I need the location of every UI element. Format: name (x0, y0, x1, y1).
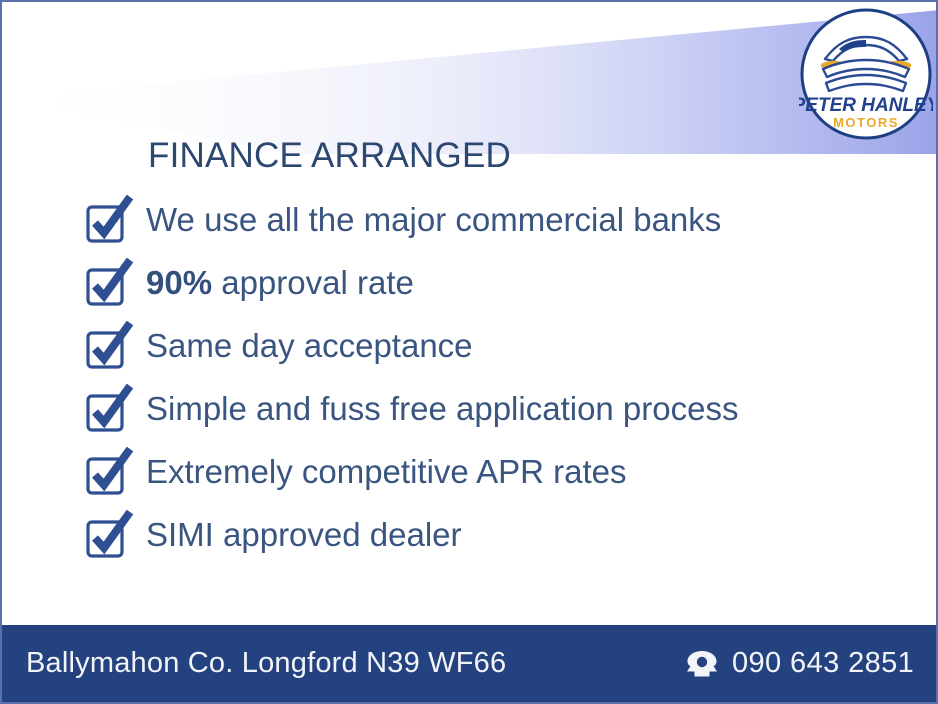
list-item-label: Same day acceptance (146, 329, 473, 362)
checkbox-checked-icon (84, 384, 134, 434)
footer-bar: Ballymahon Co. Longford N39 WF66 090 643… (2, 625, 936, 702)
page-title: FINANCE ARRANGED (148, 136, 511, 176)
finance-arranged-poster: PETER HANLEY MOTORS FINANCE ARRANGED We … (0, 0, 938, 704)
list-item-text: Extremely competitive APR rates (146, 453, 627, 490)
list-item-label: Simple and fuss free application process (146, 392, 739, 425)
list-item-text: approval rate (212, 264, 414, 301)
list-item-text: We use all the major commercial banks (146, 201, 721, 238)
list-item-text: Simple and fuss free application process (146, 390, 739, 427)
list-item-label: SIMI approved dealer (146, 518, 462, 551)
footer-phone-group[interactable]: 090 643 2851 (685, 647, 914, 680)
list-item-emphasis: 90% (146, 264, 212, 301)
list-item-label: We use all the major commercial banks (146, 203, 721, 236)
footer-address: Ballymahon Co. Longford N39 WF66 (26, 647, 506, 680)
list-item-label: Extremely competitive APR rates (146, 455, 627, 488)
list-item: Simple and fuss free application process (84, 377, 884, 440)
list-item-text: SIMI approved dealer (146, 516, 462, 553)
list-item: 90% approval rate (84, 251, 884, 314)
checkbox-checked-icon (84, 321, 134, 371)
peter-hanley-motors-logo: PETER HANLEY MOTORS (799, 7, 933, 141)
list-item: SIMI approved dealer (84, 503, 884, 566)
footer-phone-number: 090 643 2851 (732, 647, 914, 680)
checkbox-checked-icon (84, 195, 134, 245)
checkbox-checked-icon (84, 510, 134, 560)
checkbox-checked-icon (84, 447, 134, 497)
logo-brand-line1: PETER HANLEY (799, 95, 933, 116)
list-item-text: Same day acceptance (146, 327, 473, 364)
list-item: Extremely competitive APR rates (84, 440, 884, 503)
list-item-label: 90% approval rate (146, 266, 414, 299)
list-item: Same day acceptance (84, 314, 884, 377)
feature-list: We use all the major commercial banks 90… (84, 188, 884, 566)
list-item: We use all the major commercial banks (84, 188, 884, 251)
checkbox-checked-icon (84, 258, 134, 308)
logo-brand-line2: MOTORS (833, 115, 899, 130)
telephone-icon (685, 650, 719, 678)
